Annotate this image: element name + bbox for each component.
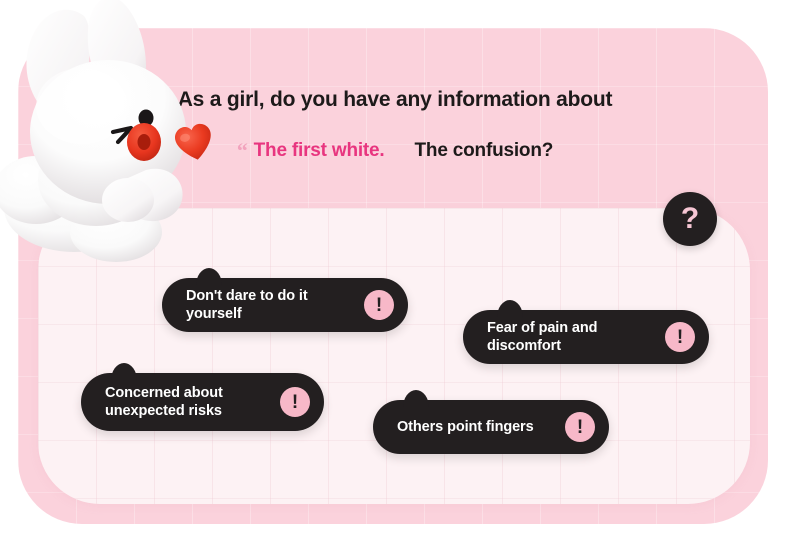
exclamation-icon: ! xyxy=(280,387,310,417)
poster-canvas: As a girl, do you have any information a… xyxy=(0,0,790,544)
concern-label: Concerned about unexpected risks xyxy=(105,384,268,420)
exclamation-icon: ! xyxy=(565,412,595,442)
concern-pill[interactable]: Don't dare to do it yourself ! xyxy=(162,278,408,332)
subheadline-highlight: The first white. xyxy=(254,140,385,161)
concern-pill[interactable]: Concerned about unexpected risks ! xyxy=(81,373,324,431)
concern-pill[interactable]: Others point fingers ! xyxy=(373,400,609,454)
concern-pill[interactable]: Fear of pain and discomfort ! xyxy=(463,310,709,364)
exclamation-icon: ! xyxy=(364,290,394,320)
concern-label: Others point fingers xyxy=(397,418,553,436)
headline-text: As a girl, do you have any information a… xyxy=(0,88,790,112)
concern-label: Don't dare to do it yourself xyxy=(186,287,352,323)
quote-mark-icon: “ xyxy=(237,138,248,163)
exclamation-icon: ! xyxy=(665,322,695,352)
subheadline: “The first white.The confusion? xyxy=(0,140,790,166)
question-mark-icon: ? xyxy=(663,192,717,246)
subheadline-rest: The confusion? xyxy=(415,140,554,161)
concern-label: Fear of pain and discomfort xyxy=(487,319,653,355)
